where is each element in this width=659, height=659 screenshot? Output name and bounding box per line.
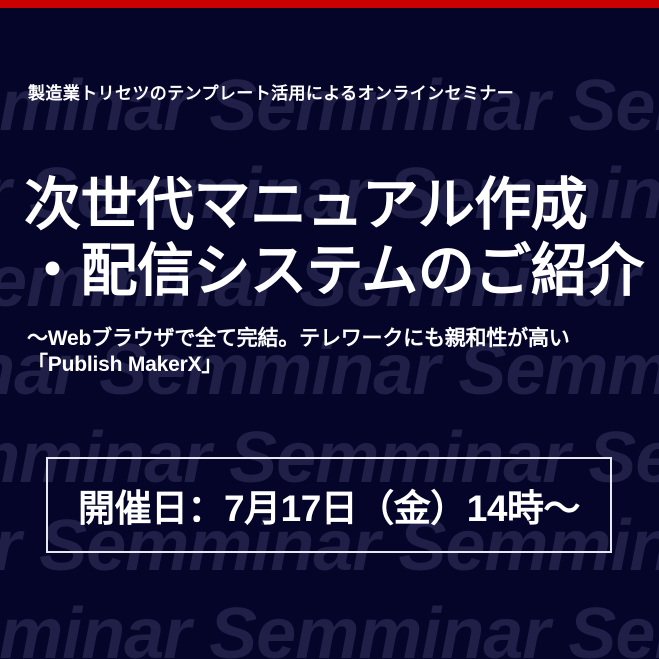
seminar-banner: Semminar Semminar Semminar Semminar Semm… — [0, 0, 659, 659]
title-line-2: ・配信システムのご紹介 — [24, 238, 654, 304]
page-title: 次世代マニュアル作成 ・配信システムのご紹介 — [24, 172, 654, 304]
subtitle-line-2: 「Publish MakerX」 — [27, 352, 647, 378]
subtitle-line-1: 〜Webブラウザで全て完結。テレワークにも親和性が高い — [27, 326, 647, 352]
eyebrow-text: 製造業トリセツのテンプレート活用によるオンラインセミナー — [28, 79, 514, 104]
subtitle: 〜Webブラウザで全て完結。テレワークにも親和性が高い 「Publish Mak… — [27, 326, 647, 378]
banner-content: 製造業トリセツのテンプレート活用によるオンラインセミナー 次世代マニュアル作成 … — [0, 0, 659, 659]
top-accent-bar — [0, 0, 659, 8]
event-date-box: 開催日：7月17日（金）14時〜 — [46, 457, 612, 553]
title-line-1: 次世代マニュアル作成 — [24, 172, 654, 238]
event-date-text: 開催日：7月17日（金）14時〜 — [78, 478, 580, 532]
